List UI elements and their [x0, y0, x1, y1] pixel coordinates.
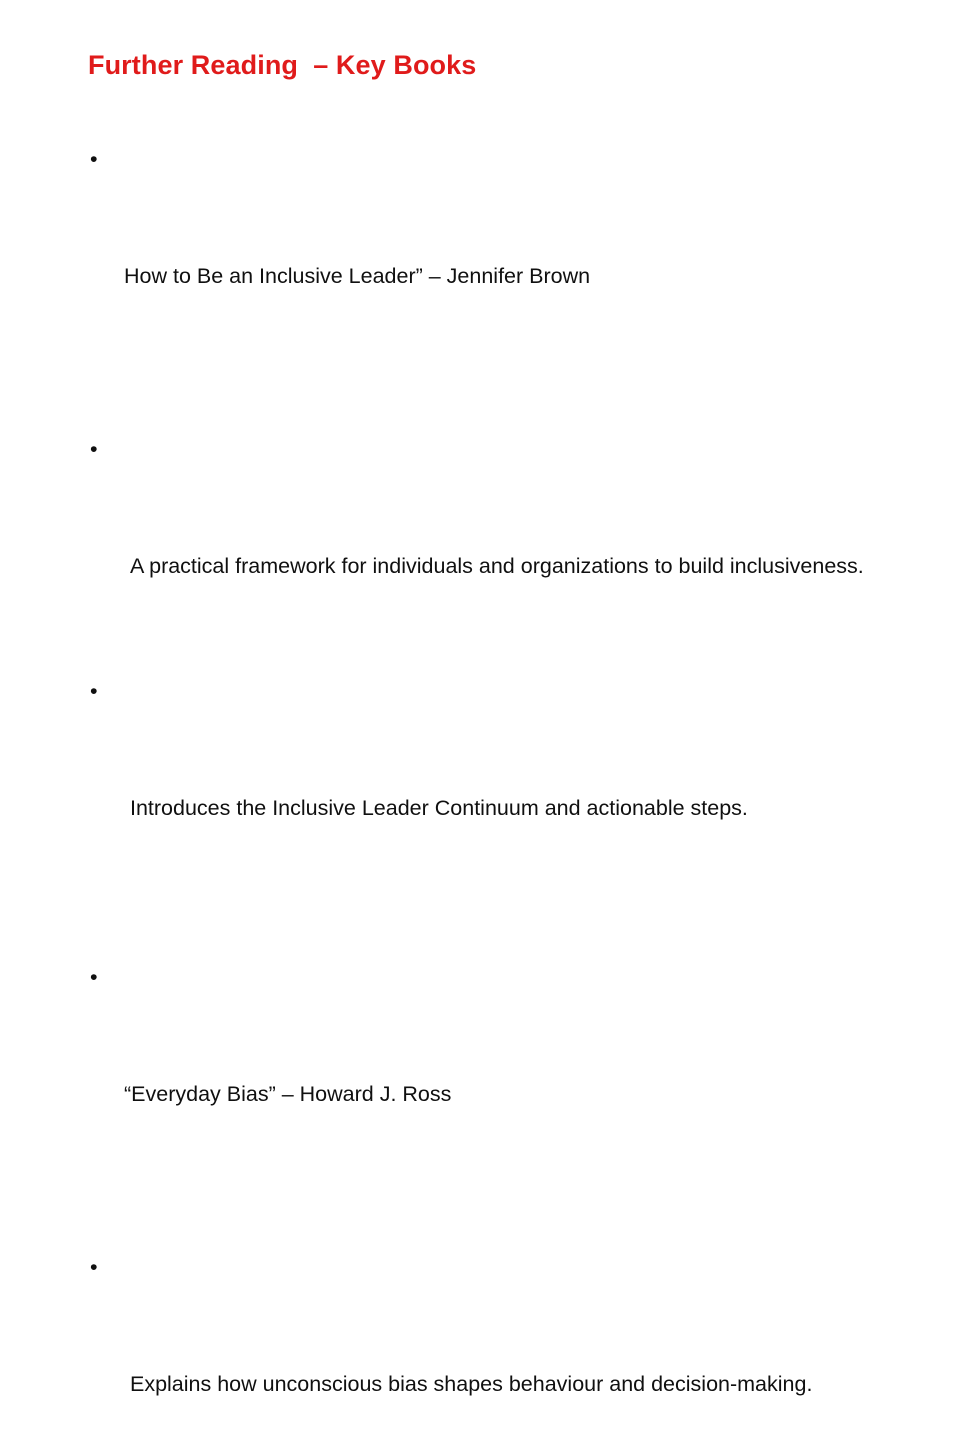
spacer [88, 1192, 888, 1248]
bullet-text: A practical framework for individuals an… [124, 547, 888, 586]
list-item[interactable]: • Introduces the Inclusive Leader Contin… [88, 672, 888, 906]
slide-canvas: Further Reading – Key Books • How to Be … [0, 0, 960, 720]
list-item[interactable]: • A practical framework for individuals … [88, 430, 888, 664]
bullet-marker-icon: • [90, 1248, 104, 1287]
list-item[interactable]: • How to Be an Inclusive Leader” – Jenni… [88, 140, 888, 374]
page-title: Further Reading – Key Books [88, 50, 888, 81]
list-item[interactable]: • Explains how unconscious bias shapes b… [88, 1248, 888, 1440]
bullet-text: Introduces the Inclusive Leader Continuu… [124, 789, 888, 828]
bullet-marker-icon: • [90, 140, 104, 179]
bullet-text: How to Be an Inclusive Leader” – Jennife… [124, 257, 888, 296]
bullet-text: Explains how unconscious bias shapes beh… [124, 1365, 888, 1404]
spacer [88, 906, 888, 958]
list-item[interactable]: • “Everyday Bias” – Howard J. Ross [88, 958, 888, 1192]
bullet-marker-icon: • [90, 958, 104, 997]
bullet-marker-icon: • [90, 430, 104, 469]
bullet-list: • How to Be an Inclusive Leader” – Jenni… [88, 140, 888, 1440]
spacer [88, 374, 888, 430]
bullet-marker-icon: • [90, 672, 104, 711]
bullet-text: “Everyday Bias” – Howard J. Ross [124, 1075, 888, 1114]
spacer [88, 664, 888, 672]
